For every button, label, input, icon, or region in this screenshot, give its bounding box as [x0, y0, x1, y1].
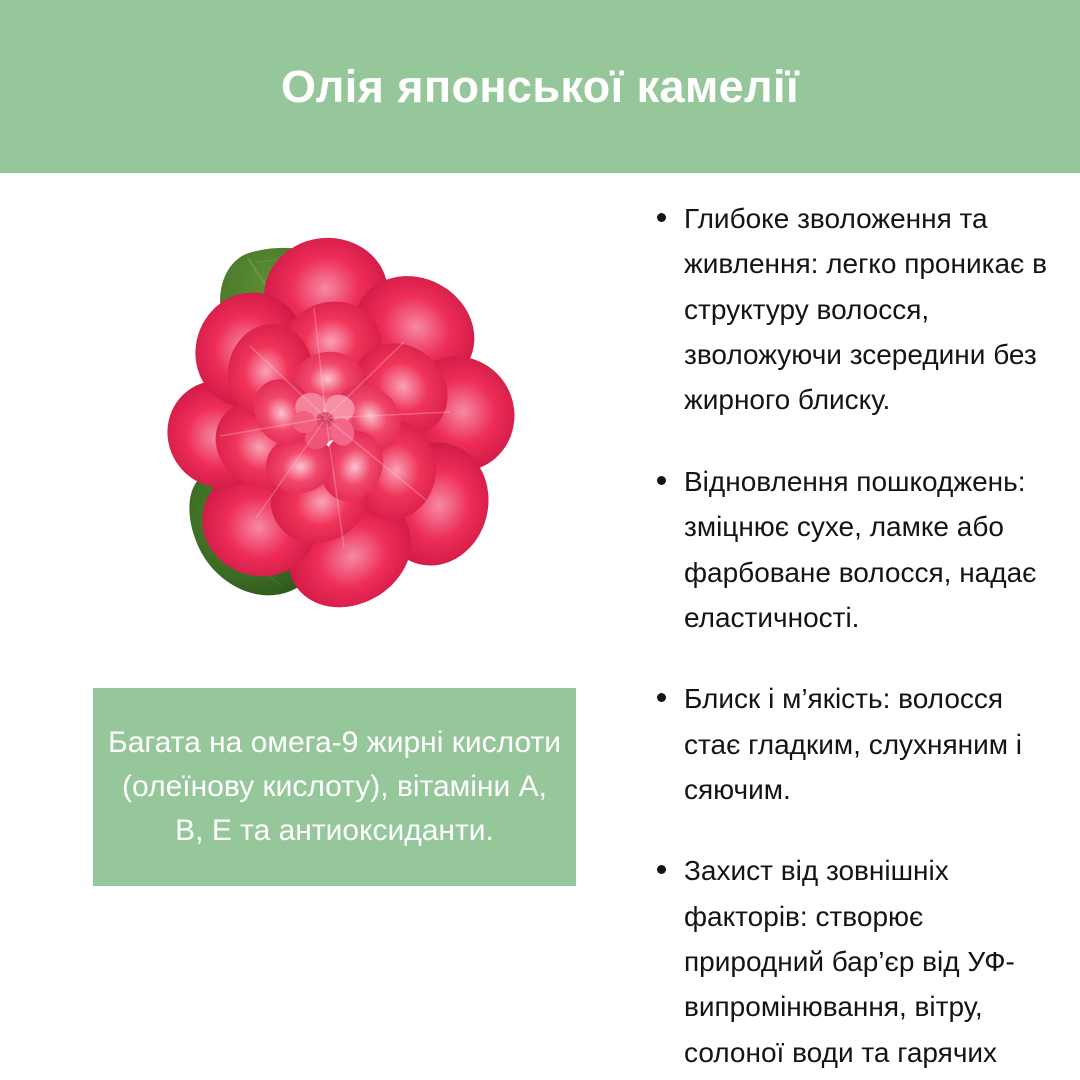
- infographic-page: Олія японської камелії: [0, 0, 1080, 1080]
- list-item-text: Блиск і м’якість: волосся стає гладким, …: [684, 683, 1022, 805]
- header-banner: Олія японської камелії: [0, 0, 1080, 173]
- page-title: Олія японської камелії: [241, 62, 839, 112]
- bullet-dot-icon: [657, 693, 666, 702]
- list-item: Блиск і м’якість: волосся стає гладким, …: [652, 676, 1052, 812]
- list-item-text: Глибоке зволоження та живлення: легко пр…: [684, 203, 1047, 415]
- list-item: Глибоке зволоження та живлення: легко пр…: [652, 196, 1052, 423]
- list-item-text: Захист від зовнішніх факторів: створює п…: [684, 855, 1015, 1080]
- callout-text: Багата на омега-9 жирні кислоти (олеїнов…: [107, 721, 562, 853]
- bullet-dot-icon: [657, 865, 666, 874]
- bullet-dot-icon: [657, 476, 666, 485]
- key-nutrients-callout: Багата на омега-9 жирні кислоти (олеїнов…: [93, 688, 576, 886]
- camellia-flower-image: [128, 222, 528, 612]
- benefits-list: Глибоке зволоження та живлення: легко пр…: [652, 196, 1052, 1080]
- bullet-dot-icon: [657, 213, 666, 222]
- list-item: Захист від зовнішніх факторів: створює п…: [652, 848, 1052, 1080]
- list-item-text: Відновлення пошкоджень: зміцнює сухе, ла…: [684, 466, 1036, 633]
- list-item: Відновлення пошкоджень: зміцнює сухе, ла…: [652, 459, 1052, 640]
- camellia-flower-icon: [128, 222, 528, 612]
